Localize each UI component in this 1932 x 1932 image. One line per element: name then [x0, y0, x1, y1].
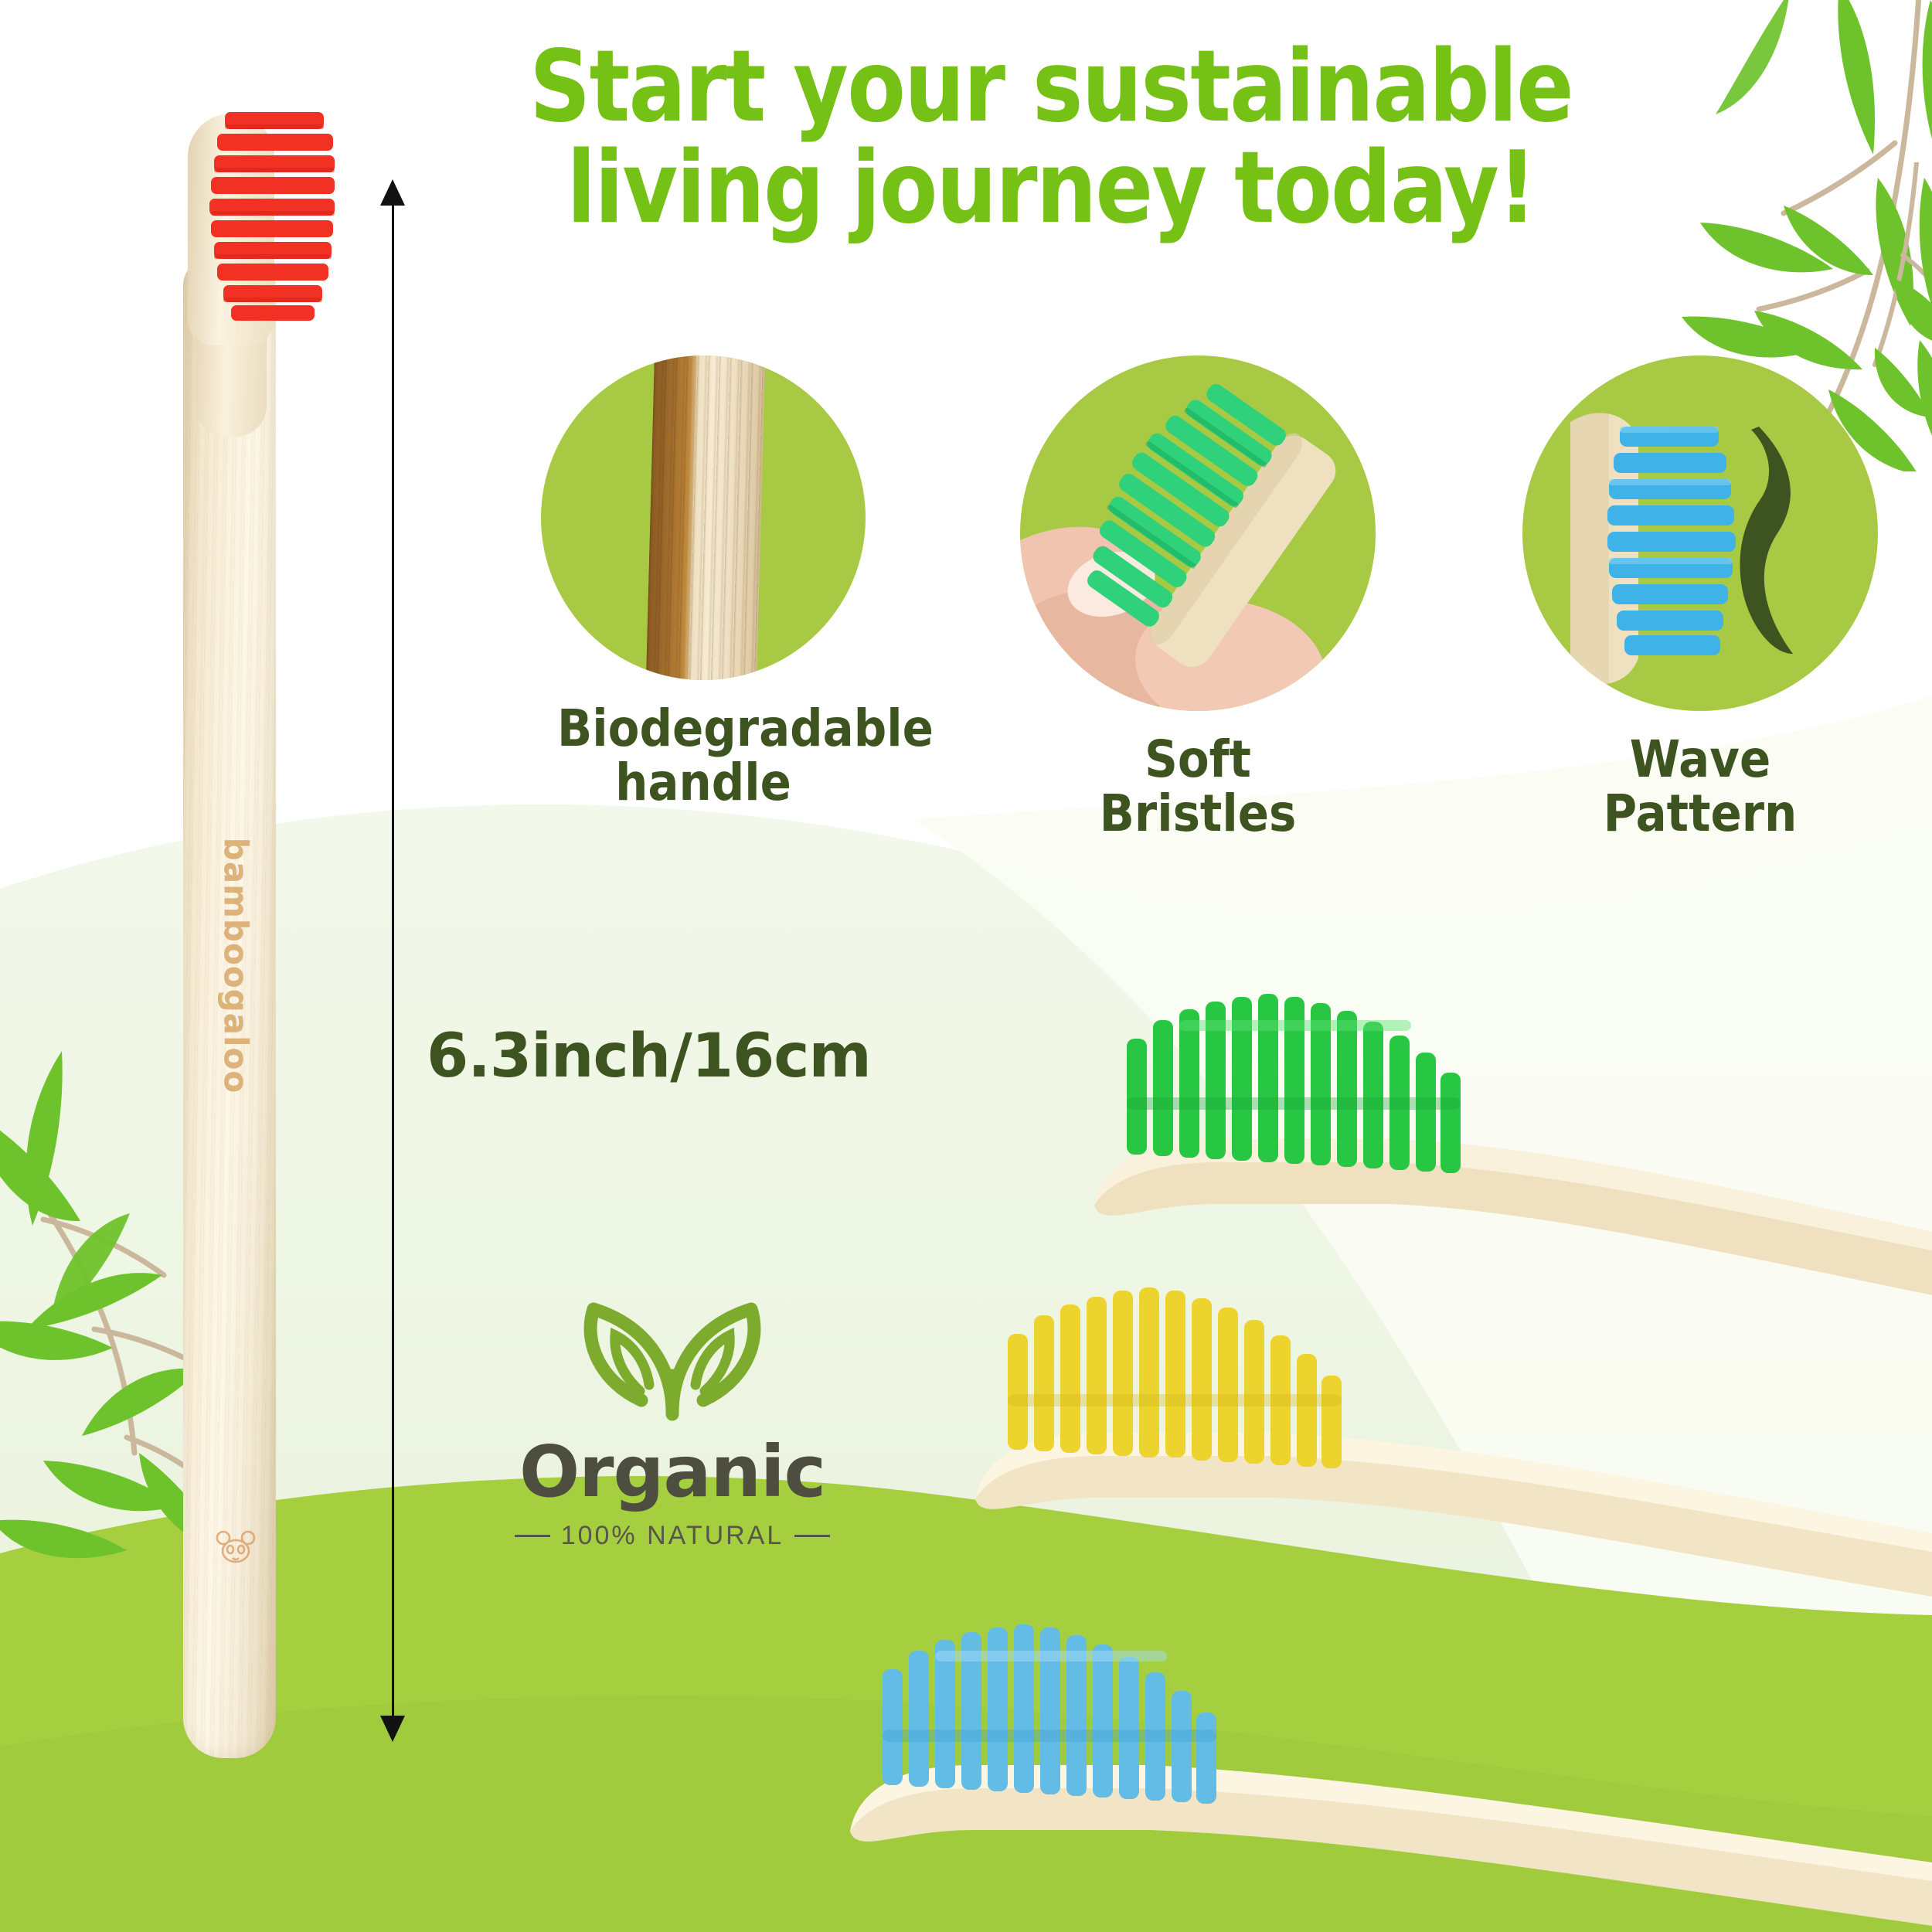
feature-caption: Wave Pattern — [1540, 733, 1860, 841]
arrow-head-down-icon — [380, 1716, 405, 1742]
feature-image-circle — [541, 355, 866, 680]
feature-image-circle — [1020, 355, 1376, 711]
red-bristles — [191, 107, 345, 339]
product-infographic: Start your sustainable living journey to… — [0, 0, 1932, 1932]
page-headline: Start your sustainable living journey to… — [493, 37, 1610, 239]
feature-caption-line-1: Biodegradable — [557, 699, 934, 758]
feature-caption: Biodegradable handle — [557, 702, 849, 810]
feature-caption-line-2: handle — [615, 753, 791, 812]
bamboo-grain-texture — [645, 355, 765, 680]
divider-left — [515, 1535, 550, 1537]
feature-caption-line-2: Bristles — [1100, 784, 1297, 843]
toothbrush-blue — [796, 1607, 1932, 1932]
wave-pattern-illustration — [1522, 355, 1878, 711]
length-measure-arrow — [380, 179, 405, 1742]
organic-subtitle: 100% NATURAL — [561, 1521, 784, 1551]
handle-brand-engraving: bamboogaloo — [217, 838, 255, 1094]
feature-image-circle — [1522, 355, 1878, 711]
main-toothbrush: bamboogaloo — [166, 143, 305, 1758]
measurement-label: 6.3inch/16cm — [427, 1022, 871, 1091]
feature-wave-pattern: Wave Pattern — [1522, 355, 1878, 841]
headline-line-1: Start your sustainable — [529, 29, 1573, 145]
feature-caption-line-1: Wave — [1630, 730, 1771, 789]
feature-caption-line-1: Soft — [1145, 730, 1251, 789]
feature-caption: Soft Bristles — [1038, 733, 1358, 841]
wave-curve-icon — [1740, 427, 1793, 654]
blue-bristles — [1607, 427, 1736, 655]
organic-badge: Organic 100% NATURAL — [510, 1283, 835, 1551]
feature-caption-line-2: Pattern — [1604, 784, 1798, 843]
two-leaves-icon — [556, 1283, 788, 1422]
arrow-shaft — [392, 199, 394, 1723]
headline-line-2: living journey today! — [493, 138, 1610, 240]
bamboo-stick-closeup-icon — [645, 355, 765, 680]
finger-pressing-bristles-icon — [1020, 355, 1376, 711]
divider-right — [794, 1535, 830, 1537]
organic-subtitle-row: 100% NATURAL — [510, 1521, 835, 1551]
panda-engraving-icon — [212, 1528, 260, 1568]
toothbrush-yellow — [912, 1267, 1932, 1623]
feature-biodegradable-handle: Biodegradable handle — [541, 355, 866, 810]
feature-soft-bristles: Soft Bristles — [1020, 355, 1376, 841]
organic-title: Organic — [510, 1430, 835, 1513]
bamboo-leaf — [1875, 178, 1932, 417]
